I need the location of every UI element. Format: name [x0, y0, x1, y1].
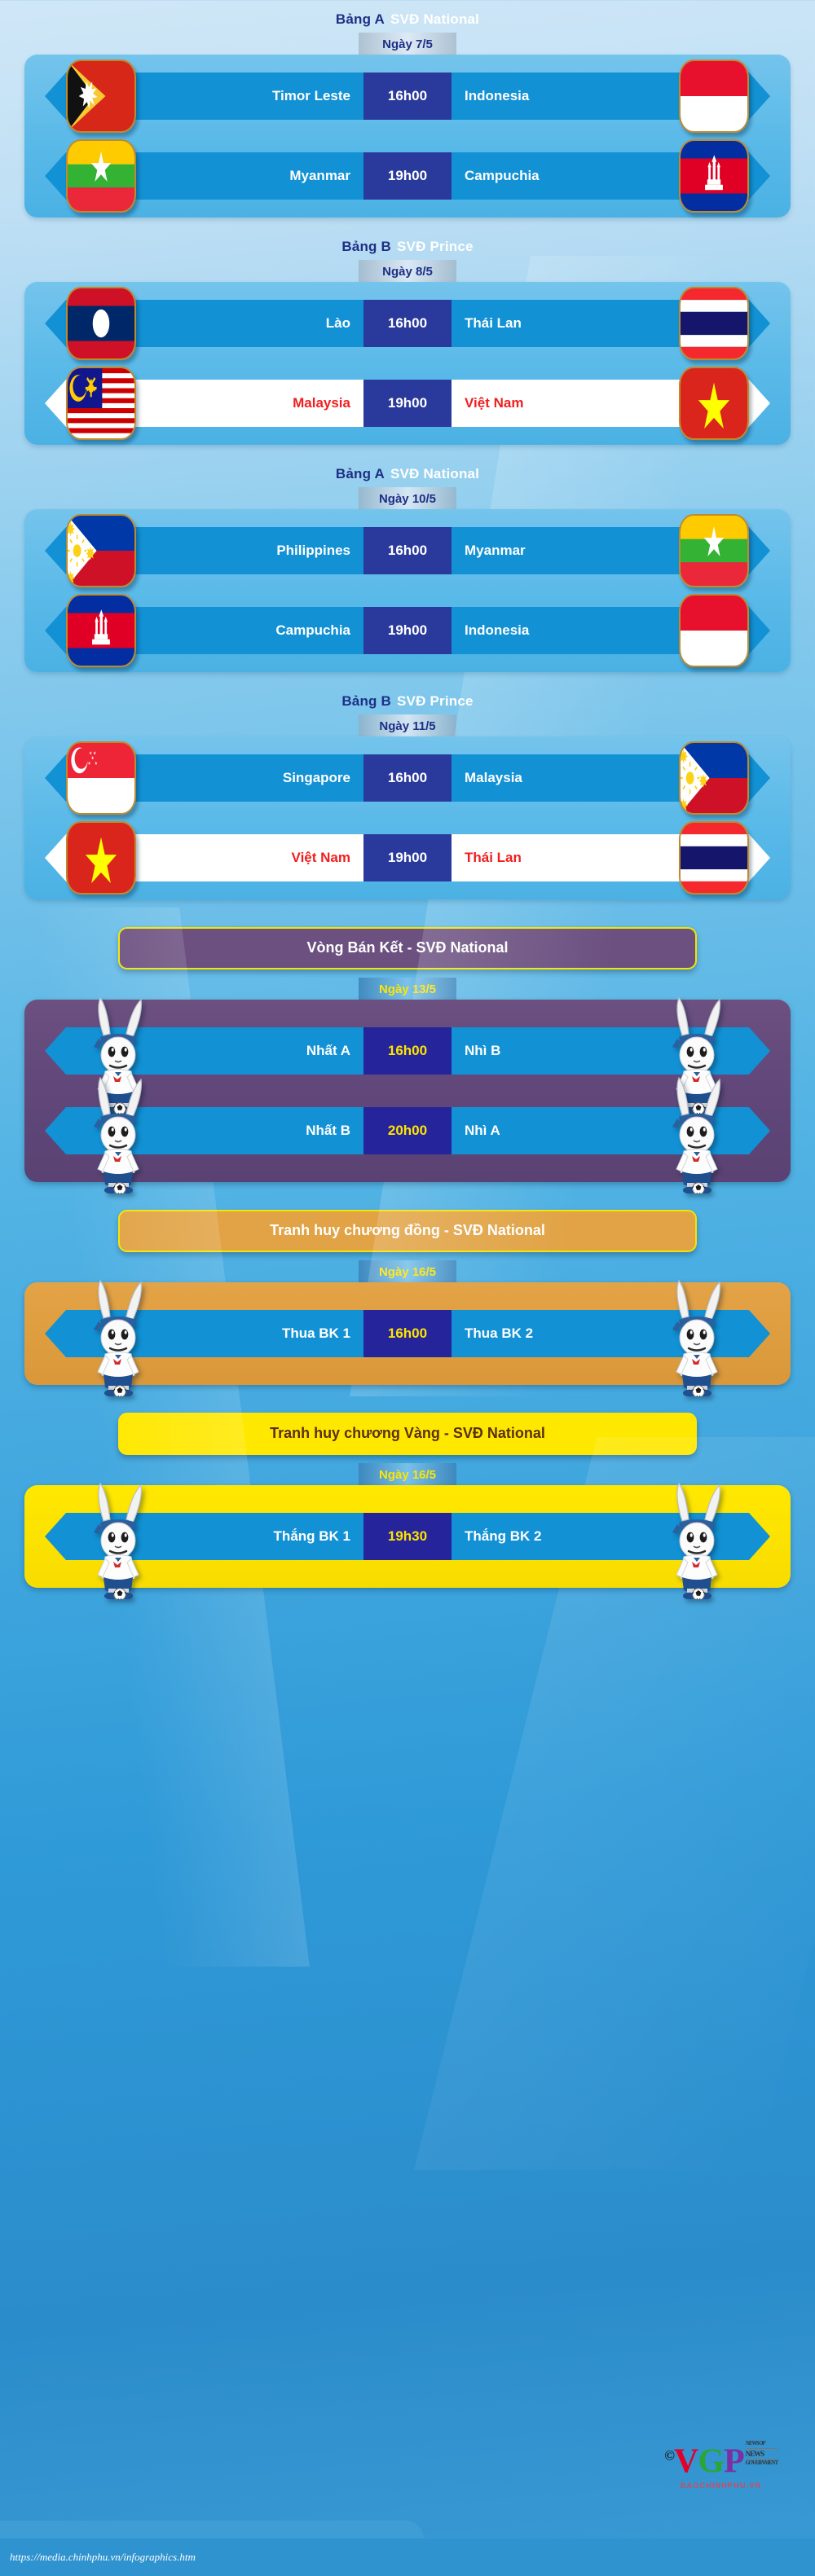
match-row[interactable]: Singapore 16h00 Malaysia — [45, 754, 770, 802]
group-heading: Bảng ASVĐ National — [0, 466, 815, 482]
match-row[interactable]: Myanmar 19h00 Campuchia — [45, 152, 770, 200]
home-flag-laos-icon — [66, 287, 136, 360]
match-time: 16h00 — [363, 73, 452, 120]
match-bar[interactable]: Timor Leste 16h00 Indonesia — [45, 73, 770, 120]
infographic-body: Bảng ASVĐ National Ngày 7/5 Timor Leste … — [0, 11, 815, 1588]
away-flag-indonesia-icon — [679, 59, 749, 133]
match-time: 16h00 — [363, 300, 452, 347]
match-panel: Thua BK 1 16h00 Thua BK 2 — [24, 1282, 791, 1385]
knockout-section: Tranh huy chương Vàng - SVĐ National Ngà… — [0, 1413, 815, 1588]
home-flag-cambodia-icon — [66, 594, 136, 667]
match-panel: Nhất A 16h00 Nhì B — [24, 1000, 791, 1182]
group-label: Bảng B — [341, 239, 391, 254]
home-flag-malaysia-icon — [66, 367, 136, 440]
match-row[interactable]: Lào 16h00 Thái Lan — [45, 300, 770, 347]
away-flag-indonesia-icon — [679, 594, 749, 667]
match-row[interactable]: Philippines 16h00 Myanmar — [45, 527, 770, 574]
group-stage-section: Bảng BSVĐ Prince Ngày 8/5 Lào 16h00 Thái… — [0, 239, 815, 445]
match-bar[interactable]: Malaysia 19h00 Việt Nam — [45, 380, 770, 427]
vgp-logo-subtitle: BAOCHINHPHU.VN — [664, 2481, 778, 2490]
group-stage-section: Bảng BSVĐ Prince Ngày 11/5 Singapore 16h… — [0, 693, 815, 899]
match-row[interactable]: Nhất B 20h00 Nhì A — [45, 1107, 770, 1154]
vgp-logo: ©VGP NEWS OF NEWS GOVERNMENT BAOCHINHPHU… — [664, 2440, 778, 2490]
home-flag-vietnam-icon — [66, 821, 136, 895]
round-banner: Tranh huy chương Vàng - SVĐ National — [118, 1413, 697, 1455]
match-time: 19h00 — [363, 834, 452, 881]
home-flag-philippines-icon — [66, 514, 136, 587]
away-flag-philippines-icon — [679, 741, 749, 815]
group-heading: Bảng BSVĐ Prince — [0, 239, 815, 255]
vgp-news-mark: NEWS OF NEWS GOVERNMENT — [746, 2440, 778, 2467]
match-row[interactable]: Thua BK 1 16h00 Thua BK 2 — [45, 1310, 770, 1357]
away-flag-thailand-icon — [679, 821, 749, 895]
match-bar[interactable]: Singapore 16h00 Malaysia — [45, 754, 770, 802]
vgp-logo-wordmark: ©VGP NEWS OF NEWS GOVERNMENT — [664, 2440, 778, 2479]
group-heading: Bảng BSVĐ Prince — [0, 693, 815, 710]
match-time: 16h00 — [363, 1027, 452, 1075]
match-row[interactable]: Nhất A 16h00 Nhì B — [45, 1027, 770, 1075]
away-flag-vietnam-icon — [679, 367, 749, 440]
match-time: 19h00 — [363, 607, 452, 654]
home-flag-timor-leste-icon — [66, 59, 136, 133]
group-label: Bảng A — [336, 11, 385, 27]
home-flag-myanmar-icon — [66, 139, 136, 213]
match-panel: Thắng BK 1 19h30 Thắng BK 2 — [24, 1485, 791, 1588]
venue-label: SVĐ Prince — [397, 693, 474, 709]
url-bar-curve — [0, 2521, 424, 2539]
vgp-letter-p: P — [724, 2443, 744, 2481]
match-time: 19h30 — [363, 1513, 452, 1560]
match-row[interactable]: Campuchia 19h00 Indonesia — [45, 607, 770, 654]
round-banner: Tranh huy chương đồng - SVĐ National — [118, 1210, 697, 1252]
match-time: 16h00 — [363, 754, 452, 802]
vgp-news-mid: NEWS — [746, 2448, 778, 2460]
away-flag-thailand-icon — [679, 287, 749, 360]
vgp-letter-g: G — [698, 2443, 724, 2481]
away-flag-myanmar-icon — [679, 514, 749, 587]
knockout-section: Vòng Bán Kết - SVĐ National Ngày 13/5 Nh… — [0, 927, 815, 1182]
group-stage-section: Bảng ASVĐ National Ngày 7/5 Timor Leste … — [0, 11, 815, 218]
venue-label: SVĐ National — [390, 11, 479, 27]
mascot-rabbit-icon — [658, 1274, 736, 1396]
venue-label: SVĐ Prince — [397, 239, 474, 254]
group-stage-section: Bảng ASVĐ National Ngày 10/5 Philippines… — [0, 466, 815, 672]
match-panel: Singapore 16h00 Malaysia Việt Nam 19 — [24, 736, 791, 899]
footer-url-text: https://media.chinhphu.vn/infographics.h… — [0, 2551, 196, 2564]
match-row[interactable]: Việt Nam 19h00 Thái Lan — [45, 834, 770, 881]
vgp-news-bot: GOVERNMENT — [746, 2460, 778, 2466]
vgp-news-top: NEWS OF — [746, 2440, 765, 2446]
group-label: Bảng B — [341, 693, 391, 709]
venue-label: SVĐ National — [390, 466, 479, 481]
match-time: 19h00 — [363, 152, 452, 200]
mascot-rabbit-icon — [79, 1477, 157, 1599]
mascot-rabbit-icon — [79, 1274, 157, 1396]
match-row[interactable]: Malaysia 19h00 Việt Nam — [45, 380, 770, 427]
mascot-rabbit-icon — [658, 1477, 736, 1599]
knockout-section: Tranh huy chương đồng - SVĐ National Ngà… — [0, 1210, 815, 1385]
match-bar[interactable]: Việt Nam 19h00 Thái Lan — [45, 834, 770, 881]
match-bar[interactable]: Myanmar 19h00 Campuchia — [45, 152, 770, 200]
match-panel: Philippines 16h00 Myanmar Campuchia 19h0… — [24, 509, 791, 672]
match-bar[interactable]: Campuchia 19h00 Indonesia — [45, 607, 770, 654]
match-row[interactable]: Thắng BK 1 19h30 Thắng BK 2 — [45, 1513, 770, 1560]
away-flag-cambodia-icon — [679, 139, 749, 213]
match-bar[interactable]: Lào 16h00 Thái Lan — [45, 300, 770, 347]
mascot-rabbit-icon — [658, 1071, 736, 1193]
match-panel: Lào 16h00 Thái Lan Malaysia 19h00 Việt N… — [24, 282, 791, 445]
copyright-icon: © — [664, 2448, 674, 2464]
match-time: 16h00 — [363, 527, 452, 574]
match-time: 19h00 — [363, 380, 452, 427]
match-time: 20h00 — [363, 1107, 452, 1154]
round-banner: Vòng Bán Kết - SVĐ National — [118, 927, 697, 969]
group-heading: Bảng ASVĐ National — [0, 11, 815, 28]
group-label: Bảng A — [336, 466, 385, 481]
mascot-rabbit-icon — [79, 1071, 157, 1193]
match-bar[interactable]: Philippines 16h00 Myanmar — [45, 527, 770, 574]
match-time: 16h00 — [363, 1310, 452, 1357]
match-panel: Timor Leste 16h00 Indonesia Myanmar 19h0… — [24, 55, 791, 218]
footer-url-bar: https://media.chinhphu.vn/infographics.h… — [0, 2539, 815, 2576]
match-row[interactable]: Timor Leste 16h00 Indonesia — [45, 73, 770, 120]
vgp-letter-v: V — [674, 2443, 698, 2481]
home-flag-singapore-icon — [66, 741, 136, 815]
